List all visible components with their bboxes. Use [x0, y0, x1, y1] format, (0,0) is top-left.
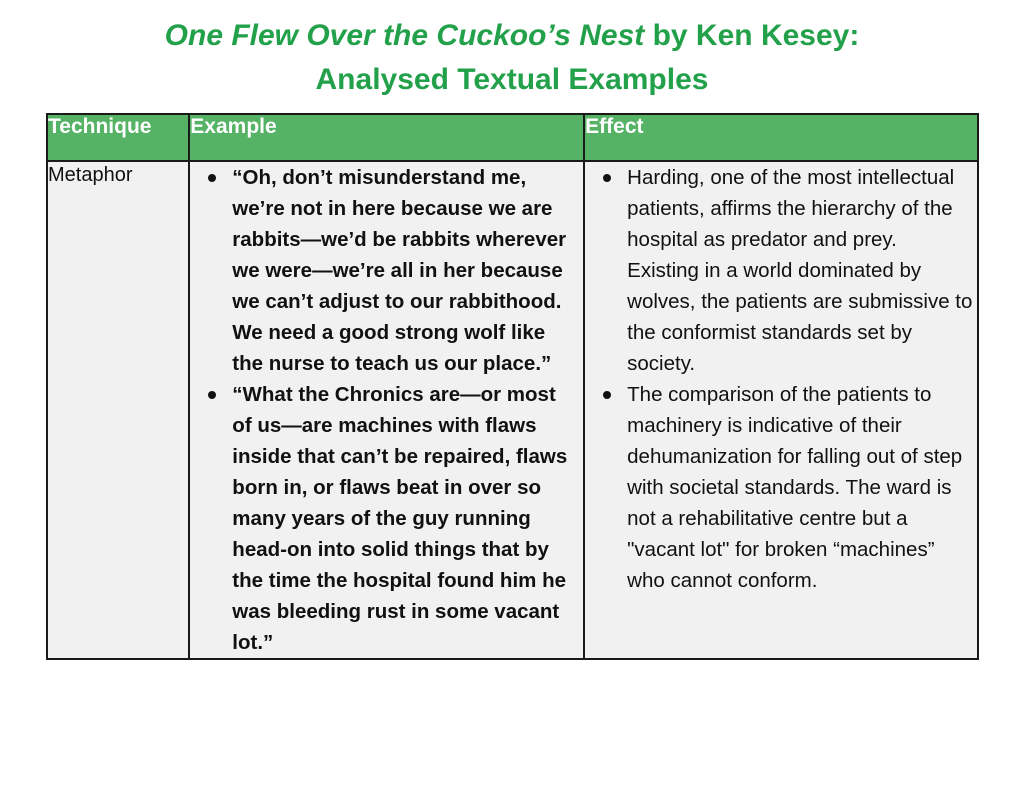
- analysis-table: Technique Example Effect Metaphor “Oh, d…: [46, 113, 979, 660]
- title-line-2: Analysed Textual Examples: [46, 58, 978, 102]
- effect-bullet-list: Harding, one of the most intellectual pa…: [585, 162, 977, 596]
- column-header-technique: Technique: [47, 114, 189, 161]
- cell-technique: Metaphor: [47, 161, 189, 659]
- book-title: One Flew Over the Cuckoo’s Nest: [165, 19, 645, 52]
- example-bullet-list: “Oh, don’t misunderstand me, we’re not i…: [190, 162, 583, 658]
- list-item: “Oh, don’t misunderstand me, we’re not i…: [232, 162, 583, 379]
- cell-effect: Harding, one of the most intellectual pa…: [584, 161, 978, 659]
- list-item: “What the Chronics are—or most of us—are…: [232, 379, 583, 658]
- list-item: Harding, one of the most intellectual pa…: [627, 162, 977, 379]
- document-page: One Flew Over the Cuckoo’s Nest by Ken K…: [0, 0, 1024, 805]
- cell-example: “Oh, don’t misunderstand me, we’re not i…: [189, 161, 584, 659]
- title-line-1: One Flew Over the Cuckoo’s Nest by Ken K…: [46, 14, 978, 58]
- table-header: Technique Example Effect: [47, 114, 978, 161]
- column-header-effect: Effect: [584, 114, 978, 161]
- table-body: Metaphor “Oh, don’t misunderstand me, we…: [47, 161, 978, 659]
- title-byline: by Ken Kesey:: [644, 19, 859, 52]
- page-title: One Flew Over the Cuckoo’s Nest by Ken K…: [0, 0, 1024, 102]
- analysis-table-container: Technique Example Effect Metaphor “Oh, d…: [46, 113, 979, 660]
- list-item: The comparison of the patients to machin…: [627, 379, 977, 596]
- column-header-example: Example: [189, 114, 584, 161]
- table-row: Metaphor “Oh, don’t misunderstand me, we…: [47, 161, 978, 659]
- table-header-row: Technique Example Effect: [47, 114, 978, 161]
